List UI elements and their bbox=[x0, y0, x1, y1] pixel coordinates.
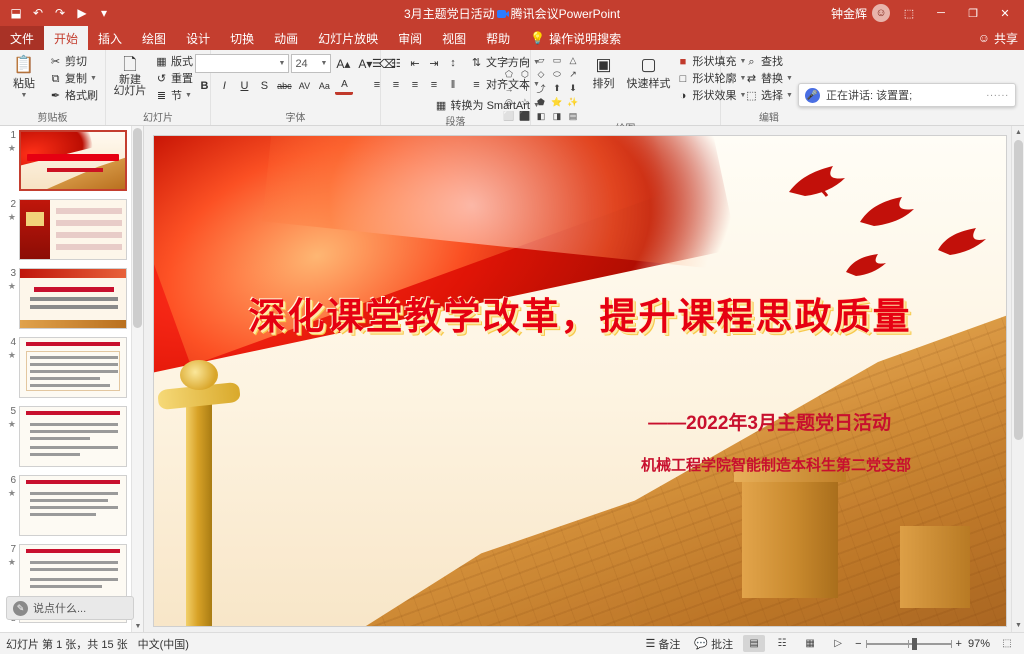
title-bar: ⬓ ↶ ↷ ▶ ▾ 3月主题党日活动 腾讯会议PowerPoint 钟金辉 ☺ … bbox=[0, 0, 1024, 26]
scissors-icon: ✂ bbox=[49, 55, 62, 69]
smartart-icon: ▦ bbox=[435, 99, 448, 113]
shape-item[interactable]: ◧ bbox=[533, 110, 548, 123]
table-row[interactable]: 4 ★ bbox=[4, 337, 131, 398]
watchtower-graphic-2 bbox=[900, 526, 970, 608]
shape-outline-icon: □ bbox=[676, 72, 689, 86]
titlebar-right-cluster: 钟金辉 ☺ ⬚ ─ ❐ ✕ bbox=[831, 1, 1022, 25]
share-button[interactable]: ☺ 共享 bbox=[978, 30, 1018, 47]
zoom-track[interactable] bbox=[866, 643, 952, 645]
start-slideshow-icon[interactable]: ▶ bbox=[72, 3, 92, 23]
line-spacing-icon[interactable]: ↕ bbox=[444, 54, 462, 72]
slide-subtitle[interactable]: ——2022年3月主题党日活动 bbox=[648, 408, 891, 435]
paste-icon: 📋 bbox=[13, 56, 34, 74]
table-row[interactable]: 2 ★ bbox=[4, 199, 131, 260]
dove-icon bbox=[858, 194, 916, 235]
shape-item[interactable]: ▭ bbox=[501, 54, 516, 67]
window-title-meeting: 腾讯会议 bbox=[511, 7, 559, 21]
thumbnail-image[interactable] bbox=[19, 268, 127, 329]
find-label: 查找 bbox=[761, 55, 783, 69]
zoom-out-button[interactable]: − bbox=[855, 638, 861, 650]
align-right-icon[interactable]: ≡ bbox=[406, 76, 424, 94]
table-row[interactable]: 1 ★ bbox=[4, 130, 131, 191]
shapes-gallery[interactable]: ▭ ▭ ▱ ▭ △ ⬠ ⬡ ◇ ⬭ ↗ → ↰ ⤴ ⬆ ⬇ ◎ ☆ bbox=[501, 54, 581, 123]
arrange-label: 排列 bbox=[592, 75, 614, 91]
star-icon: ★ bbox=[4, 211, 16, 223]
tab-design[interactable]: 设计 bbox=[176, 26, 220, 50]
shape-item[interactable]: ⤴ bbox=[533, 82, 548, 95]
thumbnail-number: 1 bbox=[10, 130, 16, 141]
shape-item[interactable]: ◨ bbox=[549, 110, 564, 123]
ribbon-display-options-icon[interactable]: ⬚ bbox=[896, 1, 922, 25]
shape-item[interactable]: ⬠ bbox=[501, 68, 516, 81]
shape-item[interactable]: ▱ bbox=[533, 54, 548, 67]
font-size-value: 24 bbox=[295, 58, 307, 70]
lightbulb-icon: 💡 bbox=[530, 31, 545, 45]
ribbon-group-clipboard: 📋 粘贴 ▼ ✂ 剪切 ⧉ 复制 ▼ ✒ 格 bbox=[0, 50, 106, 125]
thumbnail-image[interactable] bbox=[19, 337, 127, 398]
tab-insert[interactable]: 插入 bbox=[88, 26, 132, 50]
copy-icon: ⧉ bbox=[49, 72, 62, 86]
slide-sorter-view-button[interactable]: ☷ bbox=[771, 635, 793, 652]
language-indicator[interactable]: 中文(中国) bbox=[138, 636, 189, 652]
shape-item[interactable]: ⬭ bbox=[549, 68, 564, 81]
change-case-icon[interactable]: Aa bbox=[315, 77, 333, 95]
tab-transitions[interactable]: 切换 bbox=[220, 26, 264, 50]
tell-me-search[interactable]: 💡 操作说明搜索 bbox=[520, 26, 631, 50]
bold-icon[interactable]: B bbox=[195, 77, 213, 95]
shape-item[interactable]: ▭ bbox=[517, 54, 532, 67]
fit-to-window-button[interactable]: ⬚ bbox=[996, 635, 1018, 652]
chevron-down-icon[interactable]: ▾ bbox=[94, 3, 114, 23]
notes-label: 备注 bbox=[658, 636, 680, 652]
justify-icon[interactable]: ≡ bbox=[425, 76, 443, 94]
restore-icon[interactable]: ❐ bbox=[960, 1, 986, 25]
shape-item[interactable]: ⬇ bbox=[565, 82, 580, 95]
dictation-notes-bubble[interactable]: ✎ 说点什么... bbox=[6, 596, 134, 620]
quick-access-toolbar: ⬓ ↶ ↷ ▶ ▾ bbox=[2, 3, 114, 23]
huabiao-pillar-graphic bbox=[168, 330, 230, 626]
table-row[interactable]: 5 ★ bbox=[4, 406, 131, 467]
star-icon: ★ bbox=[4, 418, 16, 430]
zoom-level[interactable]: 97% bbox=[968, 638, 990, 650]
scrollbar-thumb[interactable] bbox=[133, 128, 142, 328]
slideshow-view-button[interactable]: ▷ bbox=[827, 635, 849, 652]
shape-item[interactable]: ⬟ bbox=[533, 96, 548, 109]
redo-icon[interactable]: ↷ bbox=[50, 3, 70, 23]
chevron-down-icon[interactable]: ▼ bbox=[21, 92, 28, 99]
window-title-app: PowerPoint bbox=[559, 7, 620, 21]
format-painter-icon: ✒ bbox=[49, 89, 62, 103]
thumbnail-image[interactable] bbox=[19, 199, 127, 260]
thumbnail-number: 3 bbox=[10, 268, 16, 279]
slide-thumbnail-pane: 1 ★ 2 ★ bbox=[0, 126, 144, 632]
scroll-up-icon[interactable]: ▲ bbox=[1012, 126, 1024, 139]
quick-styles-icon: ▢ bbox=[640, 56, 656, 74]
close-icon[interactable]: ✕ bbox=[992, 1, 1018, 25]
scroll-down-icon[interactable]: ▼ bbox=[1012, 619, 1024, 632]
microphone-icon[interactable]: 🎤 bbox=[805, 88, 820, 103]
normal-view-button[interactable]: ▤ bbox=[743, 635, 765, 652]
thumbnail-number: 6 bbox=[10, 475, 16, 486]
thumbnail-number: 5 bbox=[10, 406, 16, 417]
chevron-down-icon: ▼ bbox=[786, 89, 793, 103]
thumbnail-number: 2 bbox=[10, 199, 16, 210]
tab-help[interactable]: 帮助 bbox=[476, 26, 520, 50]
text-direction-icon: ⇅ bbox=[470, 56, 483, 70]
slide-title[interactable]: 深化课堂教学改革，提升课程思政质量 bbox=[154, 286, 1006, 340]
shape-item[interactable]: ⭐ bbox=[549, 96, 564, 109]
bullets-icon[interactable]: ☰ bbox=[368, 54, 386, 72]
scrollbar-thumb[interactable] bbox=[1014, 140, 1023, 440]
layout-label: 版式 bbox=[171, 55, 193, 69]
font-name-combo[interactable]: ▼ bbox=[195, 54, 289, 73]
select-icon: ⬚ bbox=[745, 89, 758, 103]
chevron-down-icon: ▼ bbox=[786, 72, 793, 86]
ribbon-tabs: 文件 开始 插入 绘图 设计 切换 动画 幻灯片放映 审阅 视图 帮助 💡 操作… bbox=[0, 26, 1024, 50]
reset-icon: ↺ bbox=[155, 72, 168, 86]
thumbnail-image[interactable] bbox=[19, 130, 127, 191]
shape-item[interactable]: ▤ bbox=[565, 110, 580, 123]
tab-review[interactable]: 审阅 bbox=[388, 26, 432, 50]
layout-icon: ▦ bbox=[155, 55, 168, 69]
tab-file[interactable]: 文件 bbox=[0, 26, 44, 50]
section-label: 节 bbox=[171, 89, 182, 103]
text-shadow-icon[interactable]: S bbox=[255, 77, 273, 95]
comments-button[interactable]: 💬 批注 bbox=[690, 635, 737, 653]
search-icon: ⌕ bbox=[745, 55, 758, 69]
dove-icon bbox=[936, 226, 988, 263]
slide-canvas[interactable]: 深化课堂教学改革，提升课程思政质量 ——2022年3月主题党日活动 机械工程学院… bbox=[154, 136, 1006, 626]
font-color-icon[interactable]: A bbox=[335, 77, 353, 95]
copy-label: 复制 bbox=[65, 72, 87, 86]
star-icon: ★ bbox=[4, 280, 16, 292]
arrange-button[interactable]: ▣ 排列 bbox=[583, 54, 623, 91]
thumbnail-image[interactable] bbox=[19, 475, 127, 536]
shape-item[interactable]: △ bbox=[565, 54, 580, 67]
chevron-down-icon: ▼ bbox=[321, 60, 328, 67]
new-slide-label: 新建 幻灯片 bbox=[114, 75, 147, 97]
cut-label: 剪切 bbox=[65, 55, 87, 69]
shape-item[interactable]: ⬛ bbox=[517, 110, 532, 123]
numbering-icon[interactable]: ☷ bbox=[387, 54, 405, 72]
comments-label: 批注 bbox=[711, 636, 733, 652]
align-text-icon: ≡ bbox=[470, 78, 483, 92]
paste-label: 粘贴 bbox=[13, 75, 35, 91]
tabs-right: ☺ 共享 bbox=[978, 26, 1024, 50]
tab-view[interactable]: 视图 bbox=[432, 26, 476, 50]
reading-view-button[interactable]: ▦ bbox=[799, 635, 821, 652]
strikethrough-icon[interactable]: abc bbox=[275, 77, 293, 95]
align-left-icon[interactable]: ≡ bbox=[368, 76, 386, 94]
select-label: 选择 bbox=[761, 89, 783, 103]
group-title-slides: 幻灯片 bbox=[143, 112, 173, 125]
star-icon: ★ bbox=[4, 487, 16, 499]
notes-button[interactable]: ☰ 备注 bbox=[642, 635, 685, 653]
work-area: 1 ★ 2 ★ bbox=[0, 126, 1024, 632]
tab-animations[interactable]: 动画 bbox=[264, 26, 308, 50]
thumbnail-number: 7 bbox=[10, 544, 16, 555]
slide-canvas-pane: 深化课堂教学改革，提升课程思政质量 ——2022年3月主题党日活动 机械工程学院… bbox=[144, 126, 1024, 632]
paste-button[interactable]: 📋 粘贴 ▼ bbox=[4, 54, 44, 99]
scroll-down-icon[interactable]: ▼ bbox=[132, 620, 144, 632]
notes-icon: ✎ bbox=[13, 601, 28, 616]
star-icon: ★ bbox=[4, 556, 16, 568]
replace-button[interactable]: ⇄ 替换 ▼ bbox=[742, 71, 796, 87]
window-title-doc: 3月主题党日活动 bbox=[404, 7, 495, 21]
underline-icon[interactable]: U bbox=[235, 77, 253, 95]
watchtower-graphic bbox=[742, 478, 838, 598]
cut-button[interactable]: ✂ 剪切 bbox=[46, 54, 101, 70]
group-title-clipboard: 剪贴板 bbox=[38, 112, 68, 125]
group-title-font: 字体 bbox=[285, 112, 305, 125]
format-painter-label: 格式刷 bbox=[65, 89, 98, 103]
italic-icon[interactable]: I bbox=[215, 77, 233, 95]
shape-effects-icon: ◑ bbox=[676, 89, 689, 103]
thumbnail-number: 4 bbox=[10, 337, 16, 348]
font-size-combo[interactable]: 24 ▼ bbox=[291, 54, 331, 73]
dictation-bar[interactable]: 🎤 正在讲话: 该置置; ∙∙∙∙∙∙ bbox=[798, 83, 1016, 107]
tencent-meeting-icon bbox=[497, 8, 509, 20]
shape-fill-icon: ■ bbox=[676, 55, 689, 69]
format-painter-button[interactable]: ✒ 格式刷 bbox=[46, 88, 101, 104]
slide-organization[interactable]: 机械工程学院智能制造本科生第二党支部 bbox=[641, 454, 911, 475]
dictation-status: 正在讲话: 该置置; bbox=[826, 87, 912, 103]
columns-icon[interactable]: ‖ bbox=[444, 76, 462, 94]
share-icon: ☺ bbox=[978, 31, 990, 45]
tab-slideshow[interactable]: 幻灯片放映 bbox=[308, 26, 388, 50]
decrease-indent-icon[interactable]: ⇤ bbox=[406, 54, 424, 72]
star-icon: ★ bbox=[4, 142, 16, 154]
shape-item[interactable]: ◇ bbox=[533, 68, 548, 81]
quick-styles-label: 快速样式 bbox=[626, 75, 670, 91]
copy-button[interactable]: ⧉ 复制 ▼ bbox=[46, 71, 101, 87]
table-row[interactable]: 3 ★ bbox=[4, 268, 131, 329]
character-spacing-icon[interactable]: AV bbox=[295, 77, 313, 95]
ribbon-group-drawing: ▭ ▭ ▱ ▭ △ ⬠ ⬡ ◇ ⬭ ↗ → ↰ ⤴ ⬆ ⬇ ◎ ☆ bbox=[531, 50, 721, 125]
star-icon: ★ bbox=[4, 349, 16, 361]
canvas-scrollbar[interactable]: ▲ ▼ bbox=[1011, 126, 1024, 632]
replace-icon: ⇄ bbox=[745, 72, 758, 86]
shape-item[interactable]: ✨ bbox=[565, 96, 580, 109]
shape-item[interactable]: ⬆ bbox=[549, 82, 564, 95]
waveform-icon: ∙∙∙∙∙∙ bbox=[986, 90, 1009, 101]
chevron-down-icon[interactable]: ▼ bbox=[185, 89, 192, 103]
tell-me-label: 操作说明搜索 bbox=[549, 30, 621, 47]
notes-icon: ☰ bbox=[646, 637, 656, 650]
shape-item[interactable]: → bbox=[501, 82, 516, 95]
shape-item[interactable]: ☆ bbox=[517, 96, 532, 109]
tab-draw[interactable]: 绘图 bbox=[132, 26, 176, 50]
quick-styles-button[interactable]: ▢ 快速样式 bbox=[625, 54, 671, 91]
table-row[interactable]: 6 ★ bbox=[4, 475, 131, 536]
reset-label: 重置 bbox=[171, 72, 193, 86]
group-title-editing: 编辑 bbox=[759, 112, 779, 125]
shape-item[interactable]: ⬡ bbox=[517, 68, 532, 81]
notes-bubble-text: 说点什么... bbox=[33, 600, 86, 616]
arrange-icon: ▣ bbox=[595, 56, 611, 74]
section-icon: ≣ bbox=[155, 89, 168, 103]
find-button[interactable]: ⌕ 查找 bbox=[742, 54, 796, 70]
thumbnail-list: 1 ★ 2 ★ bbox=[0, 126, 131, 632]
powerpoint-window: ⬓ ↶ ↷ ▶ ▾ 3月主题党日活动 腾讯会议PowerPoint 钟金辉 ☺ … bbox=[0, 0, 1024, 654]
ribbon-group-font: ▼ 24 ▼ A▴ A▾ ⌫ B I U S abc AV bbox=[211, 50, 381, 125]
shape-item[interactable]: ↰ bbox=[517, 82, 532, 95]
thumbnail-scrollbar[interactable]: ▲ ▼ bbox=[131, 126, 143, 632]
increase-indent-icon[interactable]: ⇥ bbox=[425, 54, 443, 72]
save-icon[interactable]: ⬓ bbox=[6, 3, 26, 23]
grow-font-icon[interactable]: A▴ bbox=[333, 54, 353, 73]
avatar[interactable]: ☺ bbox=[872, 4, 890, 22]
select-button[interactable]: ⬚ 选择 ▼ bbox=[742, 88, 796, 104]
slide-counter: 幻灯片 第 1 张，共 15 张 bbox=[6, 636, 128, 652]
replace-label: 替换 bbox=[761, 72, 783, 86]
dove-icon bbox=[787, 162, 851, 205]
chevron-down-icon[interactable]: ▼ bbox=[90, 72, 97, 86]
thumbnail-image[interactable] bbox=[19, 406, 127, 467]
comment-icon: 💬 bbox=[694, 637, 708, 650]
zoom-slider[interactable]: − + bbox=[855, 638, 962, 650]
shape-item[interactable]: ◎ bbox=[501, 96, 516, 109]
status-bar: 幻灯片 第 1 张，共 15 张 中文(中国) ☰ 备注 💬 批注 ▤ ☷ ▦ … bbox=[0, 632, 1024, 654]
ribbon: 📋 粘贴 ▼ ✂ 剪切 ⧉ 复制 ▼ ✒ 格 bbox=[0, 50, 1024, 126]
shape-item[interactable]: ⬜ bbox=[501, 110, 516, 123]
align-center-icon[interactable]: ≡ bbox=[387, 76, 405, 94]
shape-item[interactable]: ▭ bbox=[549, 54, 564, 67]
zoom-knob[interactable] bbox=[912, 638, 917, 650]
new-slide-icon: 🗋 bbox=[123, 56, 137, 74]
account-name: 钟金辉 bbox=[831, 5, 867, 22]
status-right-cluster: ☰ 备注 💬 批注 ▤ ☷ ▦ ▷ − + 97% bbox=[642, 635, 1018, 653]
account-chip[interactable]: 钟金辉 ☺ bbox=[831, 4, 890, 22]
chevron-down-icon: ▼ bbox=[279, 60, 286, 67]
undo-icon[interactable]: ↶ bbox=[28, 3, 48, 23]
zoom-in-button[interactable]: + bbox=[956, 638, 962, 650]
share-label: 共享 bbox=[994, 30, 1018, 47]
tab-home[interactable]: 开始 bbox=[44, 26, 88, 50]
dove-icon bbox=[844, 252, 888, 283]
shape-item[interactable]: ↗ bbox=[565, 68, 580, 81]
minimize-icon[interactable]: ─ bbox=[928, 1, 954, 25]
new-slide-button[interactable]: 🗋 新建 幻灯片 bbox=[110, 54, 150, 97]
